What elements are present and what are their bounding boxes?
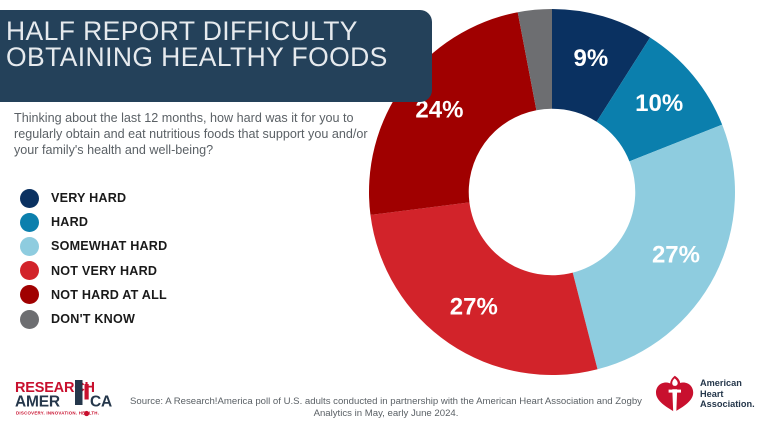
aha-torch-crossbar-icon [669, 390, 681, 393]
legend-swatch-icon [20, 285, 39, 304]
research-america-logo: RESEARCH AMER CA DISCOVERY. INNOVATION. … [13, 377, 121, 421]
american-heart-association-logo: American Heart Association. [655, 372, 763, 416]
legend-swatch-icon [20, 189, 39, 208]
legend-item-label: NOT HARD AT ALL [51, 288, 167, 302]
research-america-logo-svg: RESEARCH AMER CA DISCOVERY. INNOVATION. … [13, 377, 121, 421]
title-banner: HALF REPORT DIFFICULTY OBTAINING HEALTHY… [0, 10, 432, 102]
legend-swatch-icon [20, 213, 39, 232]
legend-item: HARD [20, 210, 320, 234]
ra-logo-exclamation-stem-icon [85, 384, 89, 400]
ra-logo-tagline: DISCOVERY. INNOVATION. HEALTH. [16, 411, 99, 416]
ra-logo-ameri-text: AMER [15, 394, 60, 411]
legend-item: SOMEWHAT HARD [20, 234, 320, 258]
page-title: HALF REPORT DIFFICULTY OBTAINING HEALTHY… [6, 18, 418, 70]
donut-slice-label: 9% [573, 45, 608, 72]
donut-slice-label: 27% [450, 294, 498, 321]
legend-item: NOT VERY HARD [20, 259, 320, 283]
legend-item-label: NOT VERY HARD [51, 264, 157, 278]
legend-item-label: DON'T KNOW [51, 312, 135, 326]
legend-swatch-icon [20, 237, 39, 256]
legend-swatch-icon [20, 261, 39, 280]
legend-swatch-icon [20, 310, 39, 329]
legend-item: DON'T KNOW [20, 307, 320, 331]
legend-item-label: SOMEWHAT HARD [51, 239, 167, 253]
ra-logo-bar [75, 380, 83, 405]
legend-item: VERY HARD [20, 186, 320, 210]
donut-slice [370, 202, 597, 375]
aha-heart-torch-icon [655, 375, 695, 413]
donut-slice-label: 10% [635, 90, 683, 117]
legend-item-label: VERY HARD [51, 191, 126, 205]
ra-logo-ca-text: CA [90, 394, 112, 411]
donut-slice-label: 27% [652, 242, 700, 269]
legend-item-label: HARD [51, 215, 88, 229]
aha-logo-text: American Heart Association. [700, 378, 755, 409]
legend-item: NOT HARD AT ALL [20, 283, 320, 307]
source-note: Source: A Research!America poll of U.S. … [130, 396, 642, 421]
survey-question: Thinking about the last 12 months, how h… [14, 110, 374, 159]
chart-legend: VERY HARDHARDSOMEWHAT HARDNOT VERY HARDN… [20, 186, 320, 331]
infographic-canvas: 9%10%27%27%24% HALF REPORT DIFFICULTY OB… [0, 0, 768, 432]
